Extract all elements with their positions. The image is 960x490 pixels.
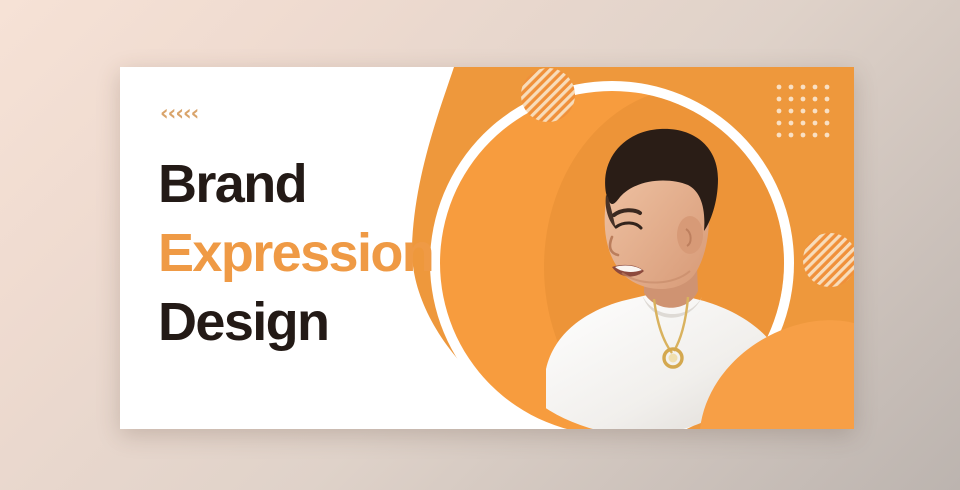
chevron-left-icon: ‹ bbox=[183, 103, 190, 124]
brand-banner-card: ‹ ‹ ‹ ‹ ‹ Brand Expression Design bbox=[120, 67, 854, 429]
striped-circle-icon-top bbox=[514, 67, 584, 129]
headline-line-3: Design bbox=[158, 288, 518, 357]
headline-line-2: Expression bbox=[158, 219, 518, 288]
chevron-left-icon: ‹ bbox=[175, 103, 182, 124]
orange-blob-shape bbox=[680, 305, 854, 429]
headline-line-1: Brand bbox=[158, 150, 518, 219]
dot-grid-icon bbox=[774, 82, 832, 140]
chevron-left-icon: ‹ bbox=[160, 103, 167, 124]
chevron-left-icon: ‹ bbox=[168, 103, 175, 124]
headline-block: ‹ ‹ ‹ ‹ ‹ Brand Expression Design bbox=[158, 103, 518, 357]
striped-circle-icon-right bbox=[800, 227, 854, 293]
chevron-left-icon: ‹ bbox=[191, 103, 198, 124]
banner-stage: ‹ ‹ ‹ ‹ ‹ Brand Expression Design bbox=[0, 0, 960, 490]
chevron-decoration: ‹ ‹ ‹ ‹ ‹ bbox=[160, 103, 518, 124]
